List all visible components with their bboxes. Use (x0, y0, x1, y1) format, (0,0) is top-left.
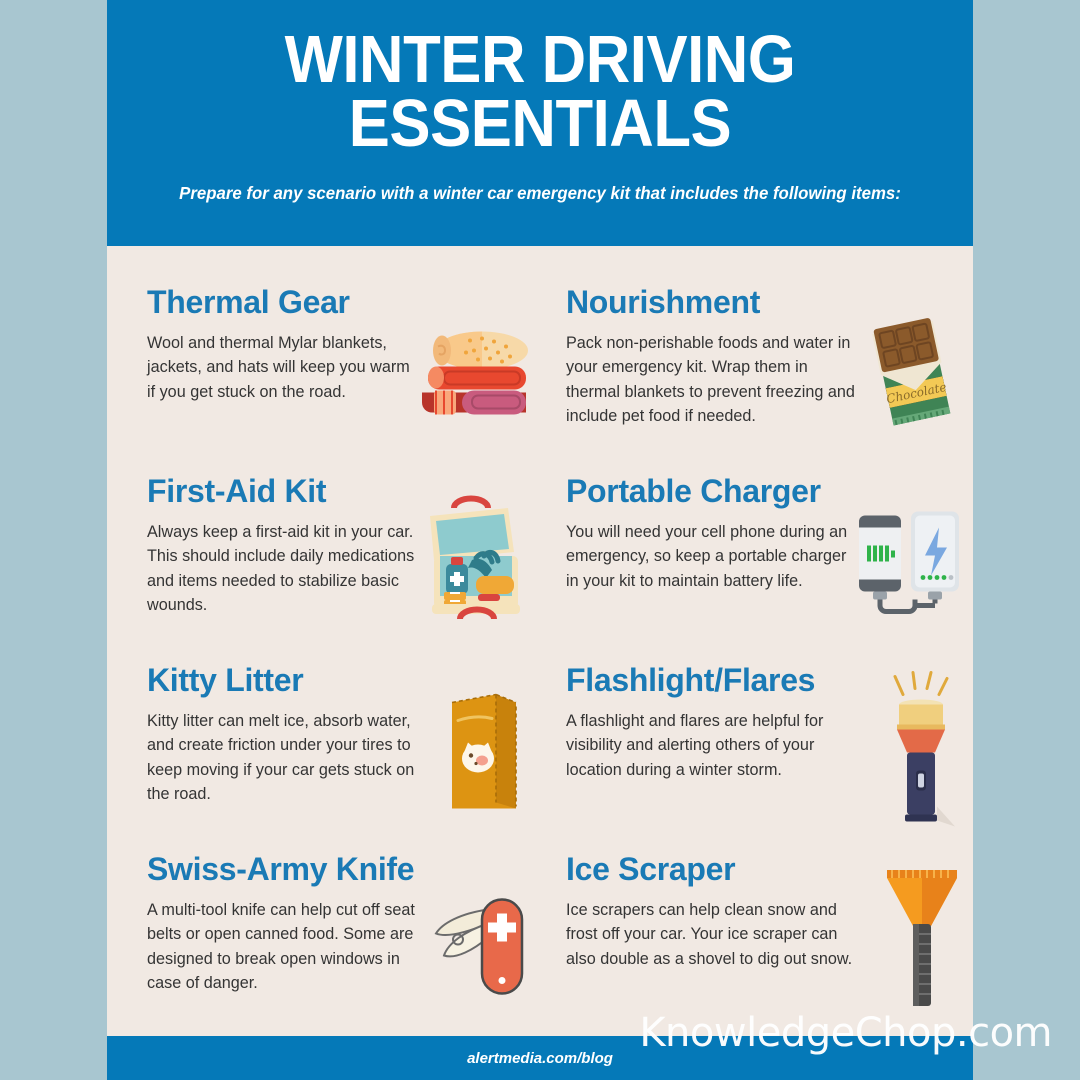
footer-link[interactable]: alertmedia.com/blog (467, 1050, 613, 1067)
title-line-2: ESSENTIALS (178, 92, 901, 156)
ice-scraper-icon (877, 862, 967, 1022)
item-kitty-litter: Kitty Litter Kitty litter can melt ice, … (117, 658, 540, 847)
item-body: Always keep a first-aid kit in your car.… (147, 520, 419, 619)
item-heading: Portable Charger (566, 475, 856, 509)
cat-litter-bag-icon (434, 680, 534, 825)
swiss-army-knife-icon (424, 879, 534, 1004)
item-heading: First-Aid Kit (147, 475, 419, 509)
item-flashlight-flares: Flashlight/Flares A flashlight and flare… (540, 658, 963, 847)
subtitle: Prepare for any scenario with a winter c… (163, 183, 918, 204)
item-swiss-army-knife: Swiss-Army Knife A multi-tool knife can … (117, 847, 540, 1036)
header: WINTER DRIVING ESSENTIALS Prepare for an… (107, 0, 973, 246)
first-aid-case-icon (416, 494, 534, 634)
item-heading: Thermal Gear (147, 286, 419, 320)
item-body: You will need your cell phone during an … (566, 520, 856, 594)
item-nourishment: Nourishment Pack non-perishable foods an… (540, 280, 963, 469)
item-body: Wool and thermal Mylar blankets, jackets… (147, 331, 419, 405)
chocolate-bar-icon: Chocolate (857, 312, 967, 437)
item-thermal-gear: Thermal Gear Wool and thermal Mylar blan… (117, 280, 540, 469)
items-grid: Thermal Gear Wool and thermal Mylar blan… (107, 246, 973, 1036)
item-heading: Kitty Litter (147, 664, 419, 698)
title-line-1: WINTER DRIVING (178, 28, 901, 92)
item-portable-charger: Portable Charger You will need your cell… (540, 469, 963, 658)
item-body: Kitty litter can melt ice, absorb water,… (147, 709, 419, 808)
phone-and-power-bank-icon (849, 505, 967, 622)
folded-blankets-icon (414, 322, 534, 427)
flashlight-icon (881, 670, 967, 835)
item-heading: Flashlight/Flares (566, 664, 856, 698)
item-heading: Ice Scraper (566, 853, 856, 887)
infographic-card: WINTER DRIVING ESSENTIALS Prepare for an… (107, 0, 973, 1080)
page-title: WINTER DRIVING ESSENTIALS (178, 28, 901, 155)
item-heading: Swiss-Army Knife (147, 853, 419, 887)
item-heading: Nourishment (566, 286, 856, 320)
item-first-aid-kit: First-Aid Kit Always keep a first-aid ki… (117, 469, 540, 658)
item-body: A multi-tool knife can help cut off seat… (147, 898, 419, 997)
item-ice-scraper: Ice Scraper Ice scrapers can help clean … (540, 847, 963, 1036)
item-body: Ice scrapers can help clean snow and fro… (566, 898, 856, 972)
item-body: A flashlight and flares are helpful for … (566, 709, 856, 783)
watermark: KnowledgeChop.com (639, 1010, 1052, 1056)
item-body: Pack non-perishable foods and water in y… (566, 331, 856, 430)
